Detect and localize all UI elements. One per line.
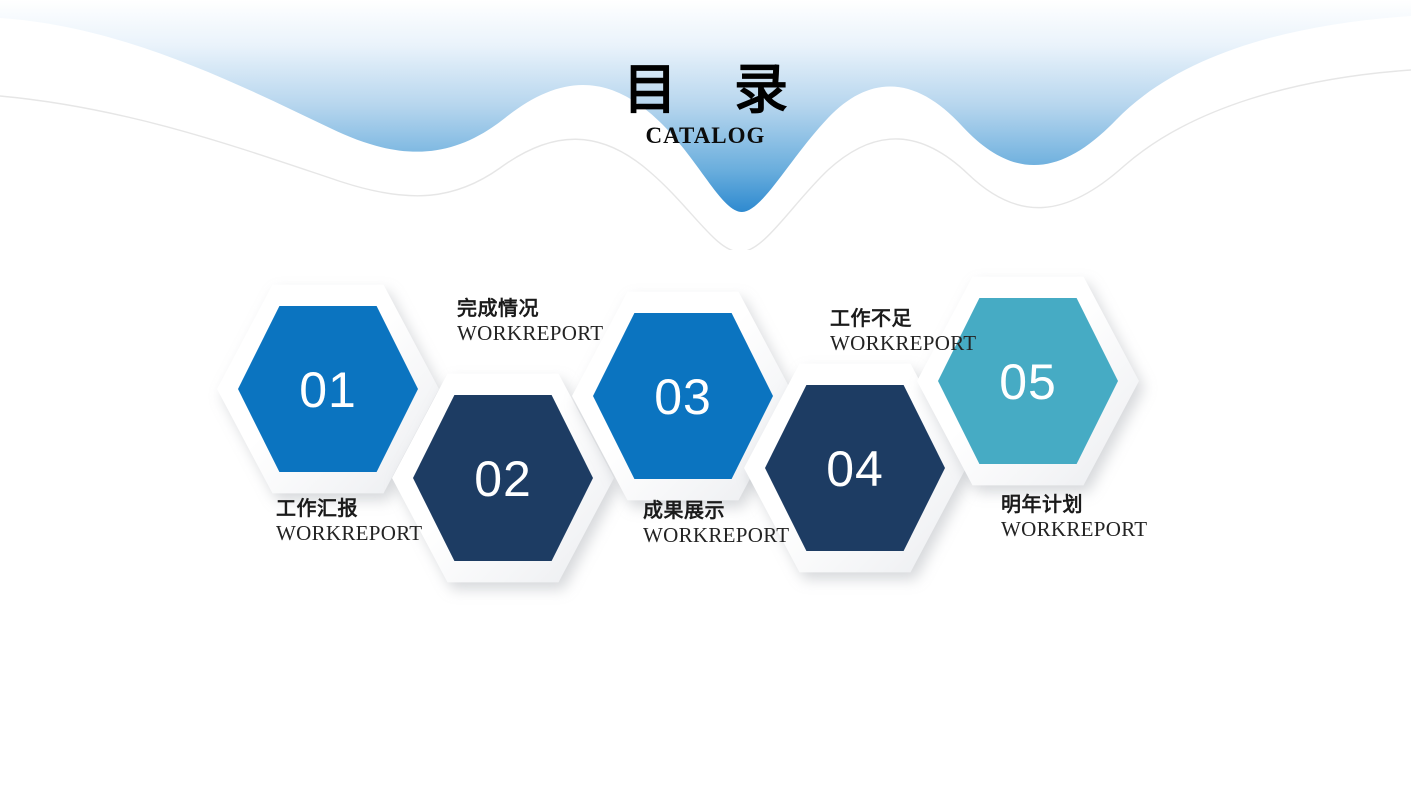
slide-title-block: 目 录 CATALOG <box>0 62 1411 149</box>
catalog-label-04: 工作不足 WORKREPORT <box>830 308 952 356</box>
catalog-label-cn-04: 工作不足 <box>830 308 952 331</box>
hex-number-04: 04 <box>826 444 884 494</box>
catalog-label-en-02: WORKREPORT <box>457 321 593 345</box>
catalog-label-cn-01: 工作汇报 <box>276 498 398 521</box>
hex-number-02: 02 <box>474 454 532 504</box>
catalog-slide: 目 录 CATALOG 01 工作汇报 WORKREPORT 02 完成情况 W… <box>0 0 1411 793</box>
catalog-label-02: 完成情况 WORKREPORT <box>457 298 593 346</box>
catalog-label-en-04: WORKREPORT <box>830 331 952 355</box>
hex-number-03: 03 <box>654 372 712 422</box>
catalog-label-03: 成果展示 WORKREPORT <box>643 500 765 548</box>
catalog-label-en-05: WORKREPORT <box>1001 517 1123 541</box>
hex-number-01: 01 <box>299 365 357 415</box>
catalog-label-01: 工作汇报 WORKREPORT <box>276 498 398 546</box>
catalog-label-cn-02: 完成情况 <box>457 298 593 321</box>
hex-number-05: 05 <box>999 357 1057 407</box>
catalog-label-05: 明年计划 WORKREPORT <box>1001 494 1123 542</box>
page-title: 目 录 <box>0 62 1411 119</box>
catalog-label-cn-05: 明年计划 <box>1001 494 1123 517</box>
page-subtitle: CATALOG <box>0 123 1411 149</box>
catalog-label-cn-03: 成果展示 <box>643 500 765 523</box>
catalog-label-en-01: WORKREPORT <box>276 521 398 545</box>
catalog-label-en-03: WORKREPORT <box>643 523 765 547</box>
